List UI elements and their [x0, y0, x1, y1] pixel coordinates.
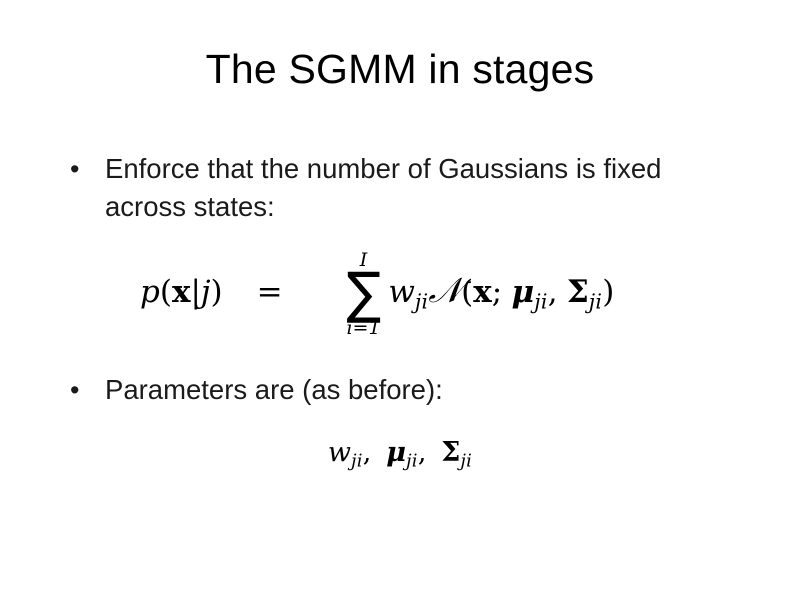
symbol-w: w: [388, 274, 415, 310]
equation-rhs: wji𝒩(x;μji,Σji): [388, 271, 614, 314]
bullet-item-1: • Enforce that the number of Gaussians i…: [62, 150, 682, 226]
paren-close-rhs: ): [602, 274, 614, 310]
equals-sign: =: [223, 274, 319, 310]
param-symbol-mu: μ: [386, 437, 406, 468]
param-symbol-sigma: Σ: [441, 437, 460, 468]
summation-operator: I ∑ i=1: [345, 251, 383, 338]
comma-rhs: ,: [548, 274, 558, 310]
param-w-subscript: ji: [351, 451, 363, 472]
param-comma-1: ,: [363, 437, 372, 468]
equation-parameter-list: wji,μji,Σji: [0, 437, 800, 472]
semicolon: ;: [492, 274, 502, 310]
symbol-mu: μ: [512, 274, 535, 310]
param-sigma-subscript: ji: [460, 451, 472, 472]
bullet-marker-icon: •: [62, 150, 105, 188]
symbol-sigma-subscript: ji: [589, 290, 602, 314]
paren-close-lhs: ): [211, 274, 223, 310]
sum-sigma-glyph: ∑: [346, 268, 381, 320]
symbol-x-bold: x: [172, 274, 190, 310]
symbol-given-bar: |: [190, 274, 200, 310]
bullet-marker-icon-2: •: [62, 371, 105, 409]
bullet-text-2: Parameters are (as before):: [105, 371, 443, 409]
param-comma-2: ,: [418, 437, 427, 468]
param-mu-subscript: ji: [406, 451, 418, 472]
symbol-mu-subscript: ji: [534, 290, 547, 314]
symbol-gaussian-N: 𝒩: [428, 271, 461, 311]
presentation-slide: The SGMM in stages • Enforce that the nu…: [0, 0, 800, 599]
paren-open-lhs: (: [160, 274, 172, 310]
bullet-item-2: • Parameters are (as before):: [62, 371, 682, 409]
bullet-text-1: Enforce that the number of Gaussians is …: [105, 150, 665, 226]
equation-lhs: p(x|j): [140, 274, 223, 310]
param-symbol-w: w: [328, 437, 351, 468]
equation-mixture-density: p(x|j) = I ∑ i=1 wji𝒩(x;μji,Σji): [140, 249, 614, 336]
symbol-sigma: Σ: [567, 274, 589, 310]
slide-title: The SGMM in stages: [0, 46, 800, 93]
symbol-j: j: [201, 274, 211, 310]
symbol-w-subscript: ji: [415, 290, 428, 314]
symbol-x-bold-rhs: x: [473, 274, 491, 310]
symbol-p: p: [140, 274, 160, 310]
paren-open-rhs: (: [461, 274, 473, 310]
